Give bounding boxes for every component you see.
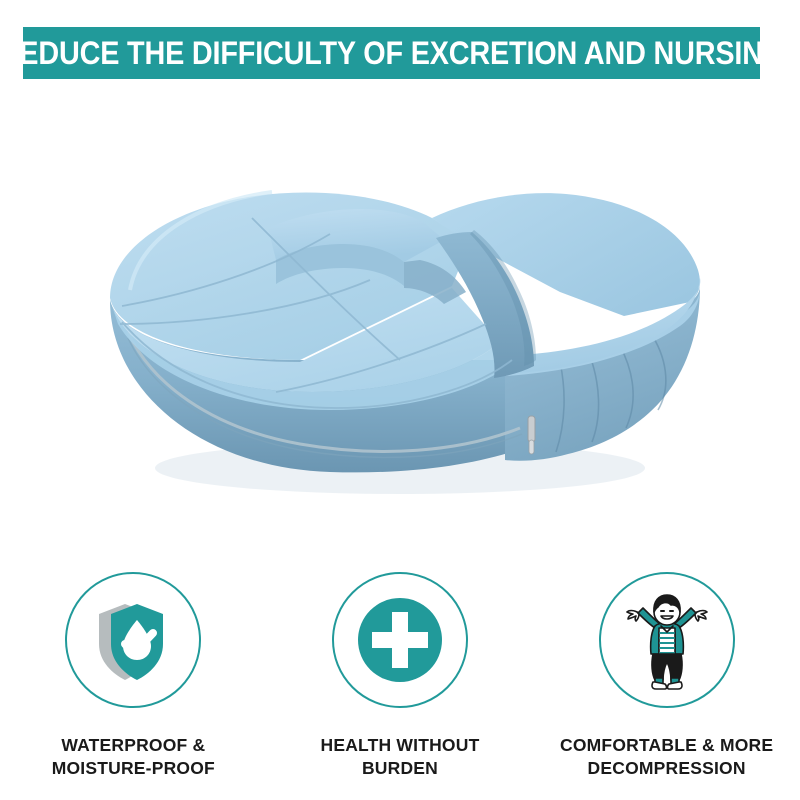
header-title: REDUCE THE DIFFICULTY OF EXCRETION AND N…	[0, 37, 785, 69]
feature-waterproof: WATERPROOF & MOISTURE-PROOF	[0, 560, 267, 800]
feature-caption-line-2: DECOMPRESSION	[560, 757, 773, 780]
feature-caption-line-1: COMFORTABLE & MORE	[560, 734, 773, 757]
shield-droplet-check-icon	[85, 592, 181, 688]
header-banner: REDUCE THE DIFFICULTY OF EXCRETION AND N…	[23, 27, 760, 79]
feature-caption-line-1: WATERPROOF &	[52, 734, 215, 757]
feature-caption-line-2: MOISTURE-PROOF	[52, 757, 215, 780]
feature-circle-health	[332, 572, 468, 708]
feature-caption-line-1: HEALTH WITHOUT	[320, 734, 479, 757]
feature-comfortable: COMFORTABLE & MORE DECOMPRESSION	[533, 560, 800, 800]
feature-circle-waterproof	[65, 572, 201, 708]
feature-caption-line-2: BURDEN	[320, 757, 479, 780]
feature-caption-waterproof: WATERPROOF & MOISTURE-PROOF	[52, 734, 215, 780]
product-feature-page: REDUCE THE DIFFICULTY OF EXCRETION AND N…	[0, 0, 800, 800]
feature-circle-comfortable	[599, 572, 735, 708]
feature-caption-comfortable: COMFORTABLE & MORE DECOMPRESSION	[560, 734, 773, 780]
feature-caption-health: HEALTH WITHOUT BURDEN	[320, 734, 479, 780]
medical-cross-circle-icon	[352, 592, 448, 688]
happy-child-icon	[615, 588, 719, 692]
feature-row: WATERPROOF & MOISTURE-PROOF HEALTH WITHO…	[0, 560, 800, 800]
feature-health: HEALTH WITHOUT BURDEN	[267, 560, 534, 800]
product-hero-image	[0, 110, 800, 530]
zipper-pull-icon	[528, 416, 535, 454]
